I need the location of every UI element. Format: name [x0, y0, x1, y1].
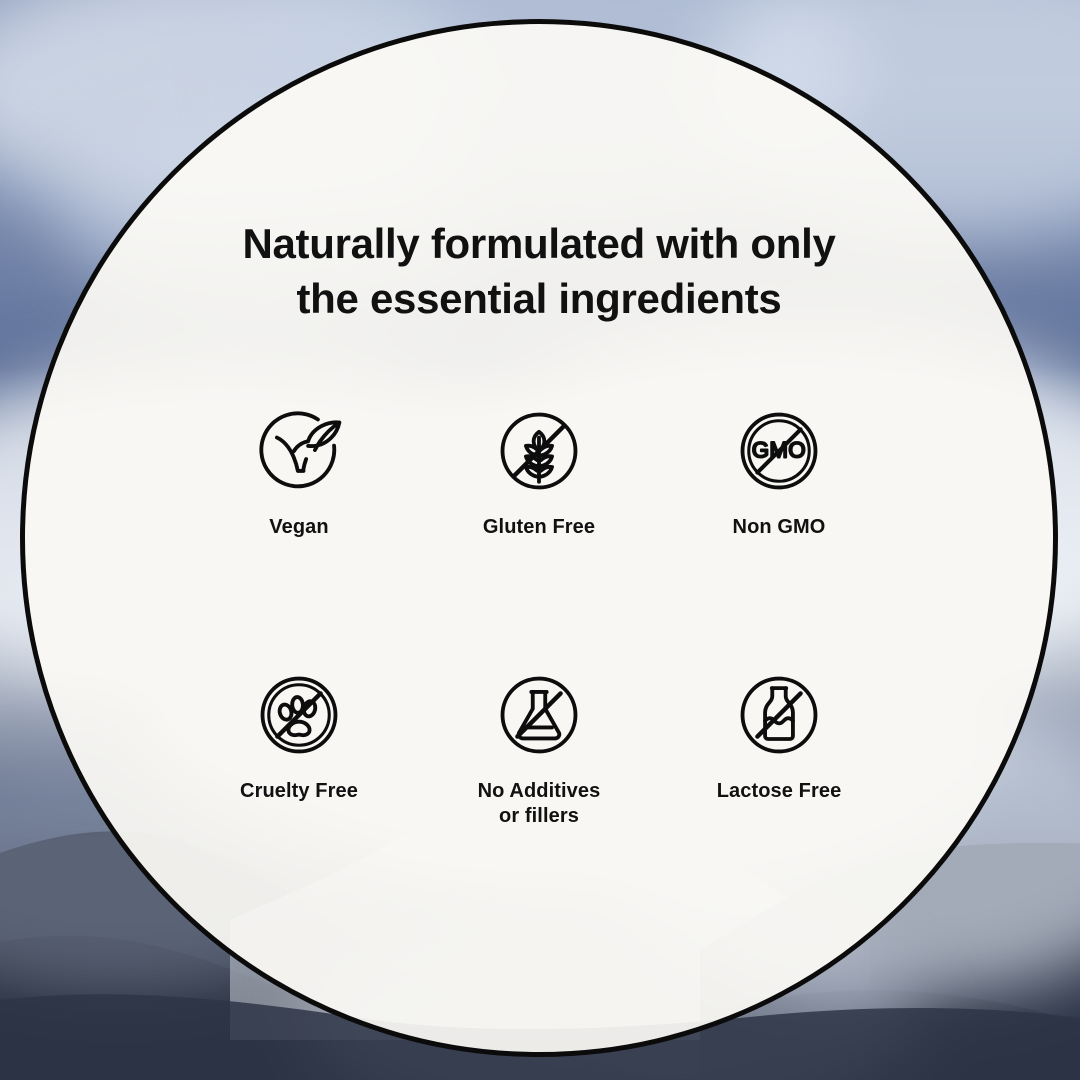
vegan-leaf-icon: [251, 403, 347, 499]
no-milk-bottle-icon: [731, 667, 827, 763]
badge-vegan: Vegan: [179, 403, 419, 539]
headline-line-1: Naturally formulated with only: [189, 216, 889, 271]
product-claims-graphic: Naturally formulated with only the essen…: [0, 0, 1080, 1080]
no-flask-icon: [491, 667, 587, 763]
content-disc: Naturally formulated with only the essen…: [20, 19, 1058, 1057]
badge-label: Cruelty Free: [240, 779, 358, 803]
badge-no-additives: No Additives or fillers: [419, 667, 659, 828]
claims-grid: Vegan: [179, 403, 899, 828]
no-paw-print-icon: [251, 667, 347, 763]
badge-lactose-free: Lactose Free: [659, 667, 899, 828]
headline-line-2: the essential ingredients: [189, 271, 889, 326]
no-wheat-icon: [491, 403, 587, 499]
page-title: Naturally formulated with only the essen…: [189, 216, 889, 327]
badge-label: Vegan: [269, 515, 328, 539]
no-gmo-icon: GMO: [731, 403, 827, 499]
badge-label: Gluten Free: [483, 515, 595, 539]
badge-gluten-free: Gluten Free: [419, 403, 659, 539]
badge-label: Lactose Free: [717, 779, 842, 803]
badge-cruelty-free: Cruelty Free: [179, 667, 419, 828]
badge-label: No Additives or fillers: [478, 779, 601, 828]
badge-label: Non GMO: [733, 515, 826, 539]
badge-non-gmo: GMO Non GMO: [659, 403, 899, 539]
svg-text:GMO: GMO: [752, 438, 806, 463]
